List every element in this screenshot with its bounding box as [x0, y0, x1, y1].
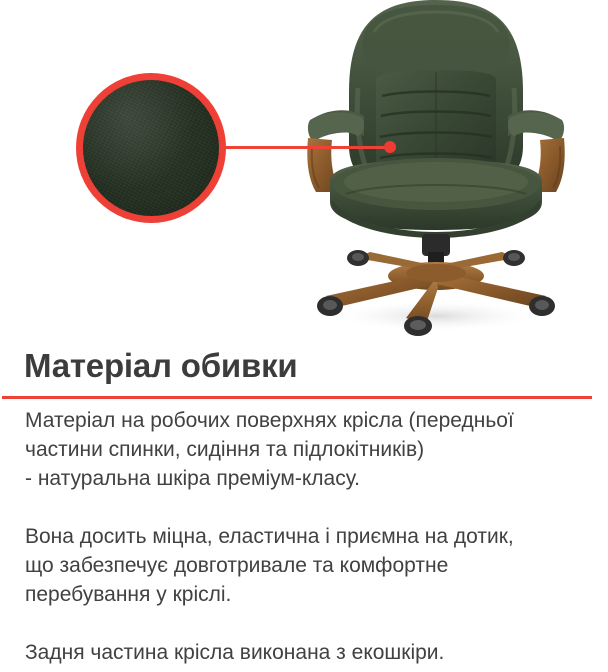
callout-marker-dot [384, 141, 396, 153]
title-divider [2, 396, 592, 399]
hero-image-area [0, 0, 608, 340]
office-chair-image [286, 0, 586, 336]
paragraph-2: Вона досить міцна, еластична і приємна н… [25, 522, 595, 609]
paragraph-1: Матеріал на робочих поверхнях крісла (пе… [25, 406, 595, 493]
upholstery-material-swatch [76, 73, 226, 223]
product-description-page: Матеріал обивки Матеріал на робочих пове… [0, 0, 608, 672]
description-body: Матеріал на робочих поверхнях крісла (пе… [25, 406, 595, 667]
page-title: Матеріал обивки [24, 347, 298, 385]
paragraph-3: Задня частина крісла виконана з екошкіри… [25, 638, 595, 667]
callout-leader-line [221, 146, 391, 149]
